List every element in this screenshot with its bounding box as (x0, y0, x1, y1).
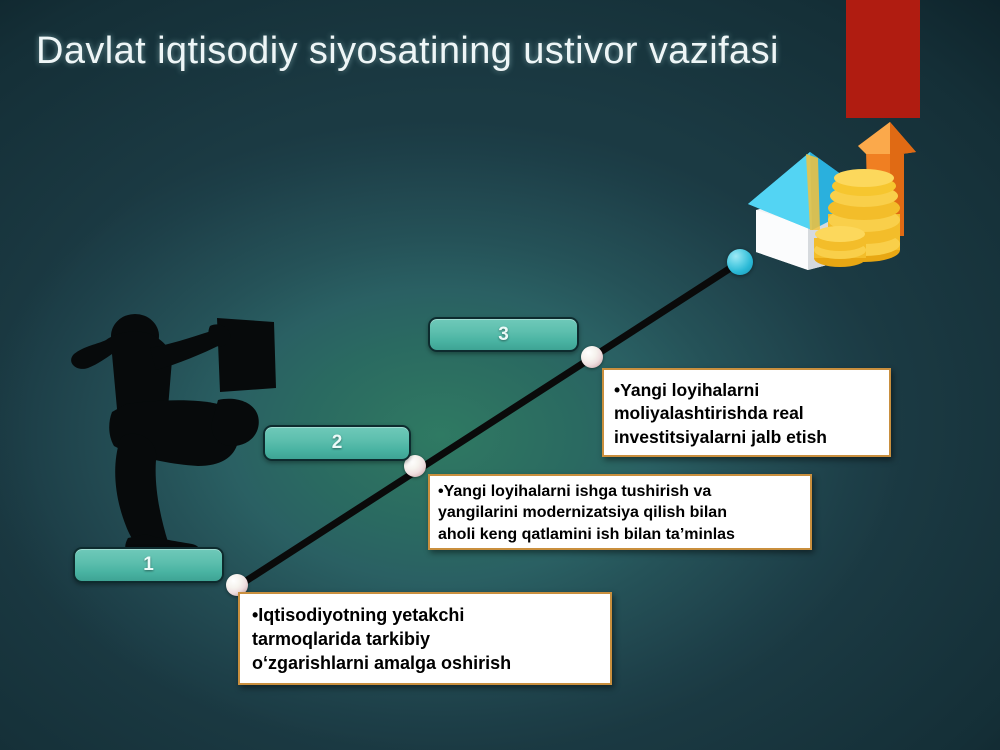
callout-step-2[interactable]: •Yangi loyihalarni ishga tushirish va ya… (428, 474, 812, 550)
callout-step-3-line-1: •Yangi loyihalarni (614, 379, 879, 402)
callout-step-1-line-3: o‘zgarishlarni amalga oshirish (252, 652, 598, 676)
callout-step-2-line-1: •Yangi loyihalarni ishga tushirish va (438, 481, 802, 502)
callout-step-2-line-2: yangilarini modernizatsiya qilish bilan (438, 502, 802, 523)
step-badge-2-label: 2 (332, 432, 343, 454)
callout-step-3[interactable]: •Yangi loyihalarni moliyalashtirishda re… (602, 368, 891, 457)
step-badge-2[interactable]: 2 (263, 425, 411, 461)
callout-step-3-line-2: moliyalashtirishda real (614, 402, 879, 425)
callout-step-1[interactable]: •Iqtisodiyotning yetakchi tarmoqlarida t… (238, 592, 612, 685)
businessman-silhouette-icon (62, 300, 294, 568)
step-badge-3-label: 3 (498, 324, 509, 346)
step-badge-3[interactable]: 3 (428, 317, 579, 352)
callout-step-3-line-3: investitsiyalarni jalb etish (614, 426, 879, 449)
presentation-slide: Davlat iqtisodiy siyosatining ustivor va… (0, 0, 1000, 750)
house-coins-growth-icon (740, 118, 918, 270)
callout-step-1-line-1: •Iqtisodiyotning yetakchi (252, 604, 598, 628)
marker-step-3 (581, 346, 603, 368)
callout-step-2-line-3: aholi keng qatlamini ish bilan ta’minlas (438, 524, 802, 545)
callout-step-1-line-2: tarmoqlarida tarkibiy (252, 628, 598, 652)
page-title: Davlat iqtisodiy siyosatining ustivor va… (36, 30, 866, 73)
coin-stack-front (814, 226, 866, 267)
marker-endpoint (727, 249, 753, 275)
step-badge-1-label: 1 (143, 554, 154, 576)
step-badge-1[interactable]: 1 (73, 547, 224, 583)
